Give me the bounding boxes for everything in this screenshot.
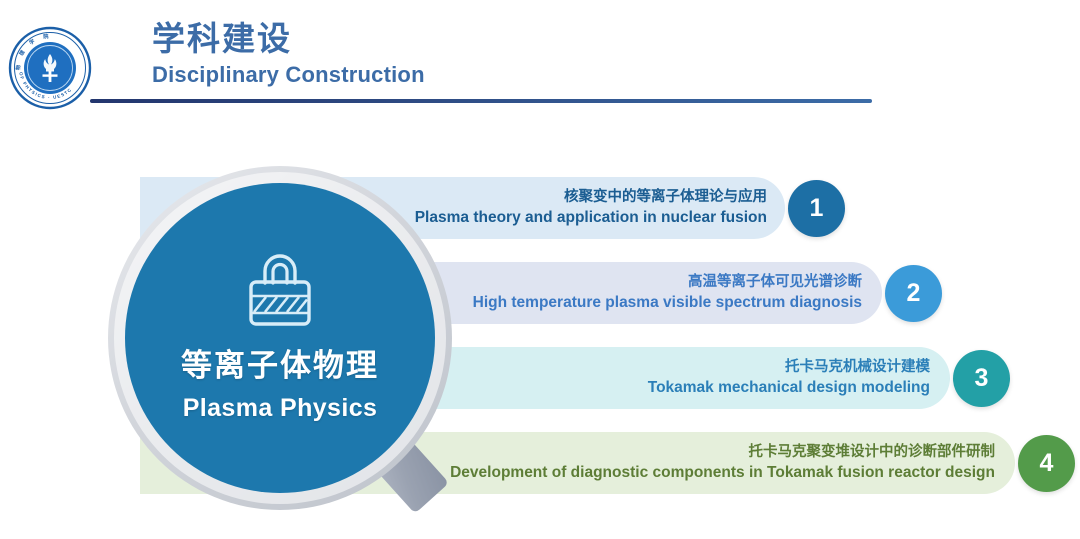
- topic-1-number: 1: [810, 194, 824, 223]
- topic-4-number-badge[interactable]: 4: [1018, 435, 1075, 492]
- topic-3-title-cn: 托卡马克机械设计建模: [785, 358, 930, 377]
- topic-4-title-cn: 托卡马克聚变堆设计中的诊断部件研制: [749, 443, 996, 462]
- topic-2-number-badge[interactable]: 2: [885, 265, 942, 322]
- topic-3-number-badge[interactable]: 3: [953, 350, 1010, 407]
- topic-1-number-badge[interactable]: 1: [788, 180, 845, 237]
- slide-canvas: 物 理 学 院 SCHOOL OF PHYSICS · UESTC 学科建设 D…: [0, 0, 1080, 539]
- topic-2-title-en: High temperature plasma visible spectrum…: [473, 292, 862, 313]
- topic-2-number: 2: [907, 279, 921, 308]
- topic-1-title-cn: 核聚变中的等离子体理论与应用: [564, 188, 767, 207]
- topic-4-title-en: Development of diagnostic components in …: [450, 462, 995, 483]
- topic-2-title-cn: 高温等离子体可见光谱诊断: [688, 273, 862, 292]
- topic-1-title-en: Plasma theory and application in nuclear…: [415, 207, 767, 228]
- magnifier-lens: [125, 183, 435, 493]
- magnifier-graphic: 等离子体物理 Plasma Physics: [100, 158, 460, 539]
- topic-3-title-en: Tokamak mechanical design modeling: [648, 377, 930, 398]
- topic-4-number: 4: [1040, 449, 1054, 478]
- topic-3-number: 3: [975, 364, 989, 393]
